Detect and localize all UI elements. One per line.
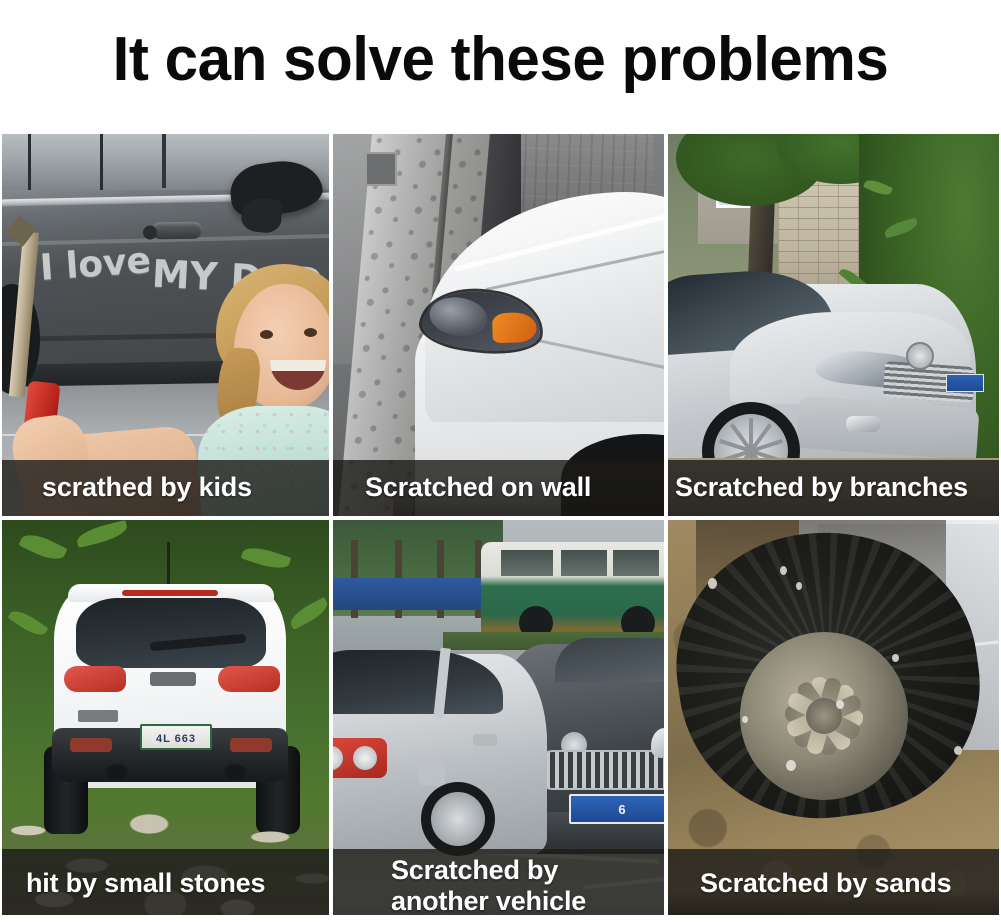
caption-scratched-by-branches: Scratched by branches: [668, 460, 999, 516]
caption-scratched-by-kids: scrathed by kids: [2, 460, 329, 516]
page-title: It can solve these problems: [15, 0, 986, 120]
grid-cell-scratched-by-kids: I love MY DAD scrathed by kids: [0, 132, 331, 518]
photo-grid: I love MY DAD scrathed by kids: [0, 132, 1001, 917]
grid-cell-scratched-by-sands: Scratched by sands: [666, 518, 1001, 917]
grid-cell-hit-by-small-stones: 4L 663 hit by small stones: [0, 518, 331, 917]
caption-scratched-by-sands: Scratched by sands: [668, 849, 999, 915]
caption-scratched-by-another-vehicle: Scratched by another vehicle: [333, 849, 664, 915]
grid-cell-scratched-by-branches: Scratched by branches: [666, 132, 1001, 518]
license-plate-dark-sedan: 6: [571, 802, 664, 817]
license-plate-jeep: 4L 663: [142, 733, 210, 745]
caption-hit-by-small-stones: hit by small stones: [2, 849, 329, 915]
scratch-text-line1: I love: [39, 240, 152, 289]
photo-scratched-on-wall: [333, 134, 664, 516]
photo-scratched-by-kids: I love MY DAD: [2, 134, 329, 516]
caption-scratched-on-wall: Scratched on wall: [333, 460, 664, 516]
grid-cell-scratched-on-wall: Scratched on wall: [331, 132, 666, 518]
grid-cell-scratched-by-another-vehicle: 6 Scratched by another vehicle: [331, 518, 666, 917]
infographic-page: It can solve these problems I love: [0, 0, 1001, 924]
photo-scratched-by-branches: [668, 134, 999, 516]
